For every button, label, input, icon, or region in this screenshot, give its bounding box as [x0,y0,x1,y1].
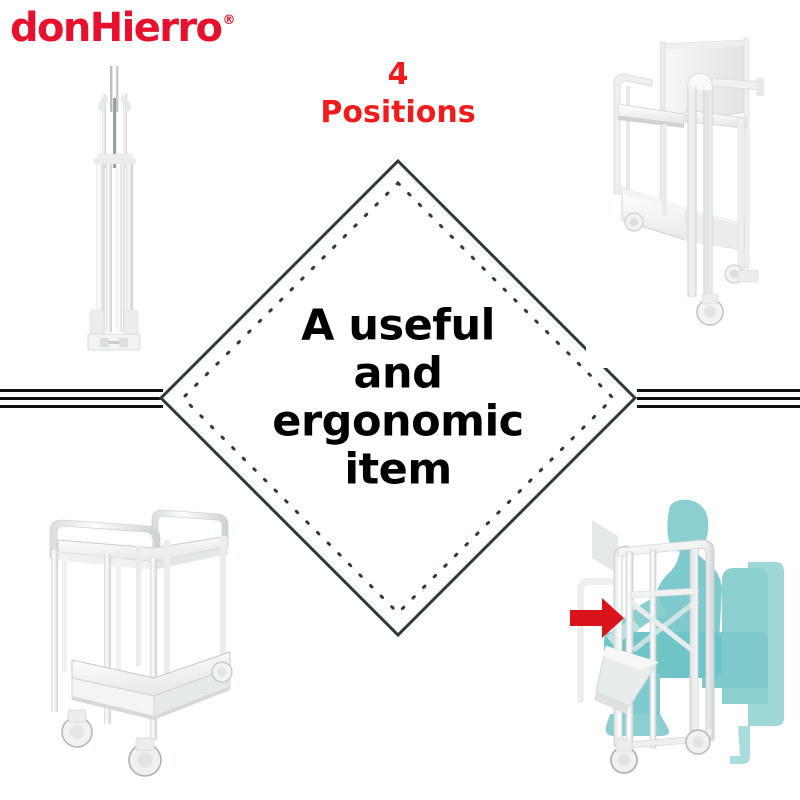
brand-logo-wordmark: donHierro [10,8,221,48]
partially-folded-trolley-illustration [586,28,800,368]
partially-folded-trolley-photo [586,28,800,368]
positions-headline-line-1: 4 [263,56,533,94]
seated-person-with-trolley-illustration [562,492,800,794]
brand-logo: donHierro ® [10,8,235,48]
castor-wheel [686,730,710,754]
rule-line [637,389,800,392]
rule-line [637,397,800,400]
rule-line [0,389,163,392]
diamond-tagline-line-3: ergonomic [233,398,563,446]
open-trolley-photo [32,492,248,792]
diamond-tagline-line-2: and [233,350,563,398]
promotional-banner: donHierro ® 4 Positions A useful and erg… [0,0,800,800]
trolley-in-use-illustration [562,492,800,794]
castor-wheel [212,662,232,682]
castor-wheel [625,213,643,231]
left-triple-rule [0,389,163,408]
diamond-tagline-line-1: A useful [233,302,563,350]
registered-trademark-icon: ® [222,14,235,27]
open-trolley-illustration [32,492,248,792]
armchair-leg-silhouette [730,726,750,764]
positions-headline: 4 Positions [263,56,533,132]
diamond-tagline-line-4: item [233,446,563,494]
folded-trolley-photo [62,58,166,358]
diamond-tagline: A useful and ergonomic item [233,302,563,495]
folded-trolley-illustration [62,58,166,358]
rule-line [0,397,163,400]
rule-line [0,405,163,408]
right-triple-rule [637,389,800,408]
positions-headline-line-2: Positions [263,94,533,132]
rule-line [637,405,800,408]
